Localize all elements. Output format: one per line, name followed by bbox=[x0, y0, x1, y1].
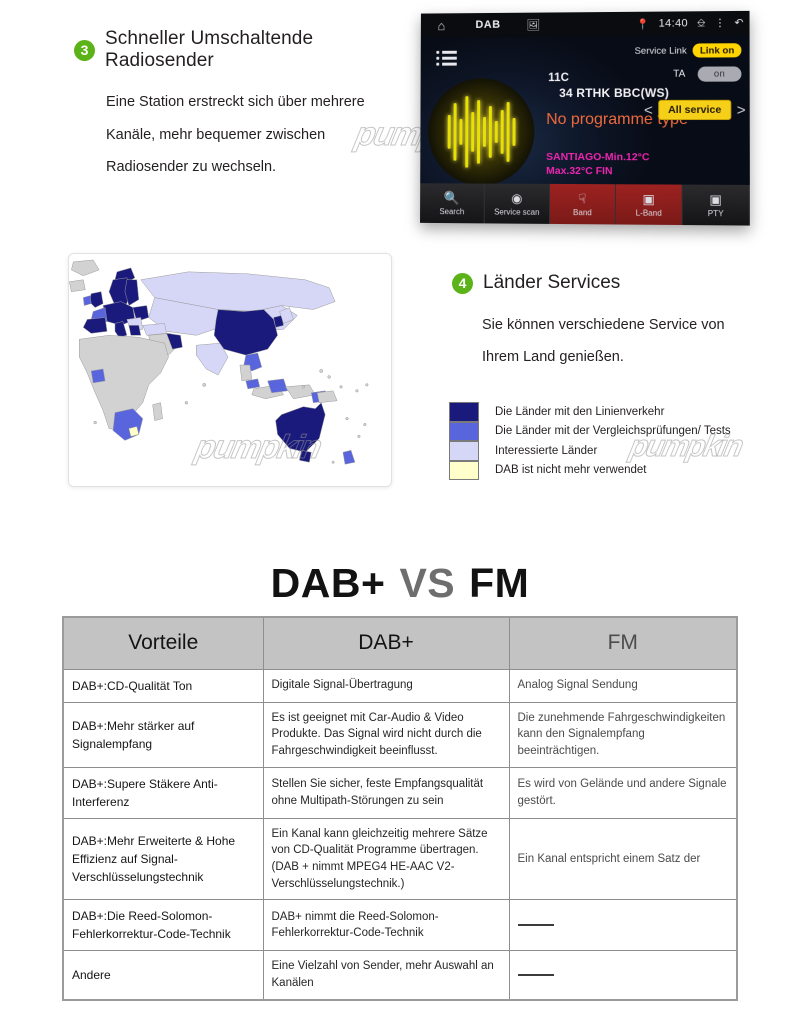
device-source-label: DAB bbox=[475, 19, 500, 31]
prev-service-arrow[interactable]: < bbox=[644, 101, 653, 118]
table-row: DAB+:Die Reed-Solomon-Fehlerkorrektur-Co… bbox=[63, 900, 737, 951]
row-dab-value: Ein Kanal kann gleichzeitig mehrere Sätz… bbox=[263, 818, 509, 900]
device-status-bar: ⌂ DAB 🖼 📍 14:40 ⎒ ⋮ ↶ bbox=[421, 11, 750, 37]
row-fm-value: Analog Signal Sendung bbox=[509, 669, 737, 702]
tab-l-band-label: L-Band bbox=[636, 208, 662, 217]
status-bar-right-group: 📍 14:40 ⎒ ⋮ ↶ bbox=[636, 11, 743, 36]
title-dab: DAB+ bbox=[271, 560, 386, 606]
home-icon[interactable]: ⌂ bbox=[429, 18, 454, 33]
row-dab-value: Digitale Signal-Übertragung bbox=[263, 669, 509, 702]
legend-swatch-interested bbox=[449, 441, 479, 461]
car-stereo-device: ⌂ DAB 🖼 📍 14:40 ⎒ ⋮ ↶ bbox=[420, 11, 750, 226]
legend-label-discontinued: DAB ist nicht mehr verwendet bbox=[495, 464, 646, 476]
section4-number-badge: 4 bbox=[452, 273, 473, 294]
row-feature: DAB+:Mehr stärker auf Signalempfang bbox=[63, 702, 263, 767]
legend-swatch-discontinued bbox=[449, 461, 479, 481]
section-country-services: 4 Länder Services Sie können verschieden… bbox=[452, 272, 782, 374]
device-tab-bar: 🔍 Search ◉ Service scan ☟ Band ▣ L-Band … bbox=[420, 183, 750, 225]
section4-heading: Länder Services bbox=[483, 272, 620, 294]
section3-body-line-2: Kanäle, mehr bequemer zwischen bbox=[106, 119, 414, 152]
section3-heading: Schneller Umschaltende Radiosender bbox=[105, 28, 414, 72]
service-link-toggle[interactable]: Link on bbox=[693, 43, 742, 57]
weather-line-1: SANTIAGO-Min.12°C bbox=[546, 151, 649, 165]
row-fm-value-empty bbox=[509, 900, 737, 951]
legend-item: DAB ist nicht mehr verwendet bbox=[449, 461, 731, 481]
location-pin-icon: 📍 bbox=[636, 17, 649, 30]
table-body: DAB+:CD-Qualität Ton Digitale Signal-Übe… bbox=[63, 669, 737, 1000]
station-name: 34 RTHK BBC(WS) bbox=[559, 86, 669, 100]
empty-dash-icon bbox=[518, 924, 554, 926]
section4-heading-row: 4 Länder Services bbox=[452, 272, 782, 294]
table-row: DAB+:Mehr Erweiterte & Hohe Effizienz au… bbox=[63, 818, 737, 900]
world-map-card bbox=[68, 253, 392, 487]
tab-band[interactable]: ☟ Band bbox=[550, 184, 616, 225]
column-header-vorteile: Vorteile bbox=[63, 617, 263, 669]
row-fm-value: Es wird von Gelände und andere Signale g… bbox=[509, 767, 737, 818]
all-service-selector: < All service > bbox=[644, 100, 746, 120]
tab-pty[interactable]: ▣ PTY bbox=[683, 185, 750, 226]
row-fm-value: Ein Kanal entspricht einem Satz der bbox=[509, 818, 737, 900]
table-header-row: Vorteile DAB+ FM bbox=[63, 617, 737, 669]
legend-item: Interessierte Länder bbox=[449, 441, 731, 461]
l-band-icon: ▣ bbox=[642, 192, 654, 205]
next-service-arrow[interactable]: > bbox=[737, 101, 746, 118]
ta-row: TA on bbox=[673, 66, 741, 81]
section4-body-line-2: Ihrem Land genießen. bbox=[482, 342, 782, 374]
section3-body-line-3: Radiosender zu wechseln. bbox=[106, 151, 414, 184]
weather-line-2: Max.32°C FIN bbox=[546, 165, 649, 179]
legend-label-interested: Interessierte Länder bbox=[495, 445, 597, 457]
ta-toggle[interactable]: on bbox=[698, 66, 742, 81]
scan-icon: ◉ bbox=[511, 191, 522, 204]
service-link-row: Service Link Link on bbox=[635, 43, 742, 58]
all-service-button[interactable]: All service bbox=[658, 100, 732, 120]
search-icon: 🔍 bbox=[444, 191, 460, 204]
title-vs: VS bbox=[399, 560, 455, 606]
section3-number-badge: 3 bbox=[74, 40, 95, 61]
table-row: DAB+:CD-Qualität Ton Digitale Signal-Übe… bbox=[63, 669, 737, 702]
tab-l-band[interactable]: ▣ L-Band bbox=[616, 184, 683, 225]
pty-icon: ▣ bbox=[709, 192, 722, 205]
section-fast-switching: 3 Schneller Umschaltende Radiosender Ein… bbox=[0, 0, 800, 240]
row-feature: Andere bbox=[63, 951, 263, 1000]
row-fm-value: Die zunehmende Fahrgeschwindigkeiten kan… bbox=[509, 702, 737, 767]
world-map-svg bbox=[69, 254, 391, 486]
ta-label: TA bbox=[673, 69, 685, 80]
row-dab-value: Es ist geeignet mit Car-Audio & Video Pr… bbox=[263, 702, 509, 767]
tab-service-scan[interactable]: ◉ Service scan bbox=[485, 184, 550, 224]
legend-label-trials: Die Länder mit der Vergleichsprüfungen/ … bbox=[495, 425, 731, 437]
comparison-table: Vorteile DAB+ FM DAB+:CD-Qualität Ton Di… bbox=[62, 616, 738, 1001]
row-fm-value-empty bbox=[509, 951, 737, 1000]
service-link-label: Service Link bbox=[635, 45, 687, 56]
tab-service-scan-label: Service scan bbox=[494, 207, 539, 216]
table-row: DAB+:Supere Stäkere Anti-Interferenz Ste… bbox=[63, 767, 737, 818]
map-legend: Die Länder mit den Linienverkehr Die Län… bbox=[449, 402, 731, 480]
picture-icon[interactable]: 🖼 bbox=[526, 18, 540, 31]
legend-label-regular-service: Die Länder mit den Linienverkehr bbox=[495, 406, 664, 418]
legend-item: Die Länder mit der Vergleichsprüfungen/ … bbox=[449, 422, 731, 442]
back-arrow-icon[interactable]: ↶ bbox=[734, 17, 743, 29]
comparison-title: DAB+VSFM bbox=[0, 560, 800, 607]
section4-body: Sie können verschiedene Service von Ihre… bbox=[482, 310, 782, 374]
section3-body: Eine Station erstreckt sich über mehrere… bbox=[106, 86, 414, 184]
audio-visualizer-orb bbox=[428, 78, 534, 185]
section3-text-block: 3 Schneller Umschaltende Radiosender Ein… bbox=[74, 28, 414, 184]
column-header-fm: FM bbox=[509, 617, 737, 669]
signal-icon: ☟ bbox=[578, 192, 586, 205]
row-feature: DAB+:Die Reed-Solomon-Fehlerkorrektur-Co… bbox=[63, 900, 263, 951]
table-head: Vorteile DAB+ FM bbox=[63, 617, 737, 669]
tab-pty-label: PTY bbox=[708, 209, 724, 218]
column-header-dab: DAB+ bbox=[263, 617, 509, 669]
row-dab-value: Eine Vielzahl von Sender, mehr Auswahl a… bbox=[263, 951, 509, 1000]
channel-label: 11C bbox=[548, 72, 669, 84]
row-dab-value: Stellen Sie sicher, feste Empfangsqualit… bbox=[263, 767, 509, 818]
row-feature: DAB+:Supere Stäkere Anti-Interferenz bbox=[63, 767, 263, 818]
visualizer-bars bbox=[428, 78, 534, 185]
tab-search[interactable]: 🔍 Search bbox=[420, 183, 485, 223]
row-feature: DAB+:Mehr Erweiterte & Hohe Effizienz au… bbox=[63, 818, 263, 900]
row-dab-value: DAB+ nimmt die Reed-Solomon-Fehlerkorrek… bbox=[263, 900, 509, 951]
screenshot-icon[interactable]: ⎒ bbox=[697, 17, 705, 30]
list-menu-icon[interactable] bbox=[436, 51, 457, 69]
device-main-screen: 11C 34 RTHK BBC(WS) No programme type SA… bbox=[420, 35, 750, 185]
row-feature: DAB+:CD-Qualität Ton bbox=[63, 669, 263, 702]
legend-swatch-regular-service bbox=[449, 402, 479, 422]
table-row: Andere Eine Vielzahl von Sender, mehr Au… bbox=[63, 951, 737, 1000]
status-bar-time: 14:40 bbox=[659, 17, 688, 29]
overflow-menu-icon[interactable]: ⋮ bbox=[715, 17, 726, 29]
section3-body-line-1: Eine Station erstreckt sich über mehrere bbox=[106, 86, 414, 119]
section3-heading-row: 3 Schneller Umschaltende Radiosender bbox=[74, 28, 414, 72]
weather-info: SANTIAGO-Min.12°C Max.32°C FIN bbox=[546, 151, 649, 179]
empty-dash-icon bbox=[518, 974, 554, 976]
station-info: 11C 34 RTHK BBC(WS) bbox=[548, 72, 669, 100]
title-fm: FM bbox=[469, 560, 529, 606]
tab-band-label: Band bbox=[573, 208, 592, 217]
tab-search-label: Search bbox=[439, 207, 464, 216]
legend-swatch-trials bbox=[449, 422, 479, 442]
table-row: DAB+:Mehr stärker auf Signalempfang Es i… bbox=[63, 702, 737, 767]
legend-item: Die Länder mit den Linienverkehr bbox=[449, 402, 731, 422]
section4-body-line-1: Sie können verschiedene Service von bbox=[482, 310, 782, 342]
